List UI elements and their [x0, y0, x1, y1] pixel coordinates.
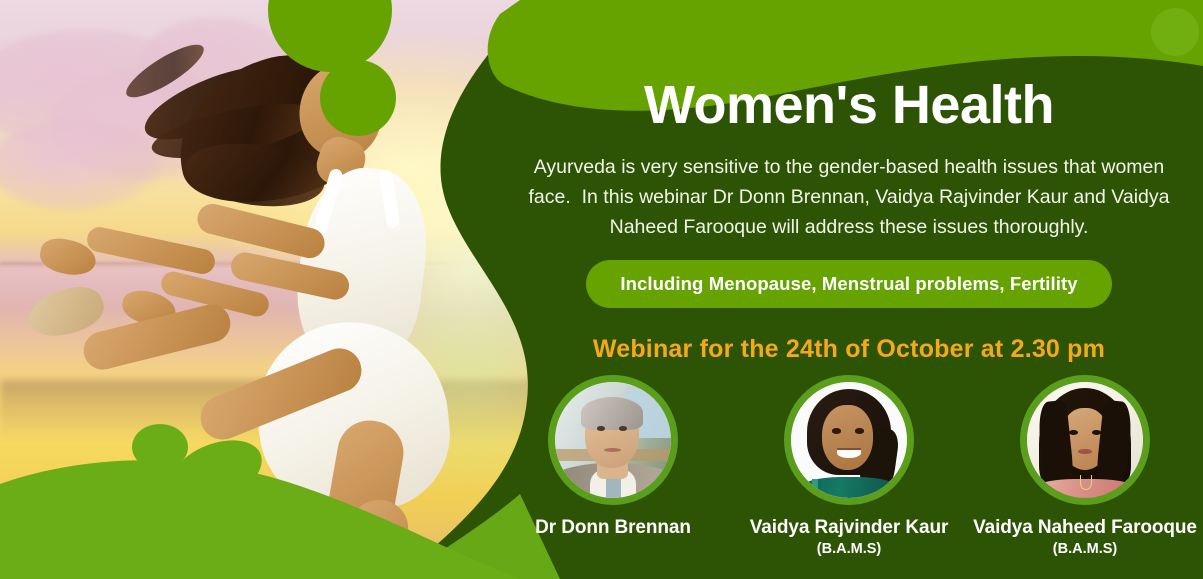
portrait-donn-brennan: [555, 382, 671, 498]
speaker-name: Vaidya Rajvinder Kaur: [737, 517, 961, 539]
portrait-smile: [837, 448, 860, 458]
portrait-eye: [855, 428, 864, 433]
portrait-naheed-farooque: [1027, 382, 1143, 498]
portrait-eye: [597, 426, 605, 431]
avatar: [548, 375, 678, 505]
speaker-credential: (B.A.M.S): [973, 541, 1197, 557]
topics-pill: Including Menopause, Menstrual problems,…: [586, 260, 1111, 308]
portrait-mouth: [1078, 449, 1092, 454]
topics-pill-wrapper: Including Menopause, Menstrual problems,…: [495, 260, 1203, 308]
wave-blob-round: [132, 424, 188, 470]
portrait-eye: [1069, 430, 1078, 435]
portrait-face: [822, 405, 873, 470]
portrait-rajvinder-kaur: [791, 382, 907, 498]
speaker-card: Vaidya Naheed Farooque (B.A.M.S): [973, 375, 1197, 557]
portrait-eye: [832, 428, 841, 433]
webinar-promo-banner: Women's Health Ayurveda is very sensitiv…: [0, 0, 1203, 579]
portrait-eye: [619, 426, 627, 431]
speakers-row: Dr Donn Brennan: [495, 375, 1203, 557]
speaker-card: Dr Donn Brennan: [501, 375, 725, 539]
top-blob-small: [320, 60, 396, 136]
portrait-necklace: [1080, 475, 1091, 490]
portrait-hair: [581, 397, 644, 429]
portrait-eye: [1092, 430, 1101, 435]
webinar-date-line: Webinar for the 24th of October at 2.30 …: [495, 335, 1203, 364]
description-text: Ayurveda is very sensitive to the gender…: [513, 152, 1185, 243]
speaker-name: Dr Donn Brennan: [501, 517, 725, 539]
content-column: Women's Health Ayurveda is very sensitiv…: [495, 0, 1203, 579]
speaker-name: Vaidya Naheed Farooque: [973, 517, 1197, 539]
speaker-card: Vaidya Rajvinder Kaur (B.A.M.S): [737, 375, 961, 557]
portrait-clothing-stripe: [812, 479, 818, 498]
avatar: [1020, 375, 1150, 505]
page-title: Women's Health: [495, 0, 1203, 132]
top-blob-large: [268, 0, 392, 72]
avatar: [784, 375, 914, 505]
speaker-credential: (B.A.M.S): [737, 541, 961, 557]
